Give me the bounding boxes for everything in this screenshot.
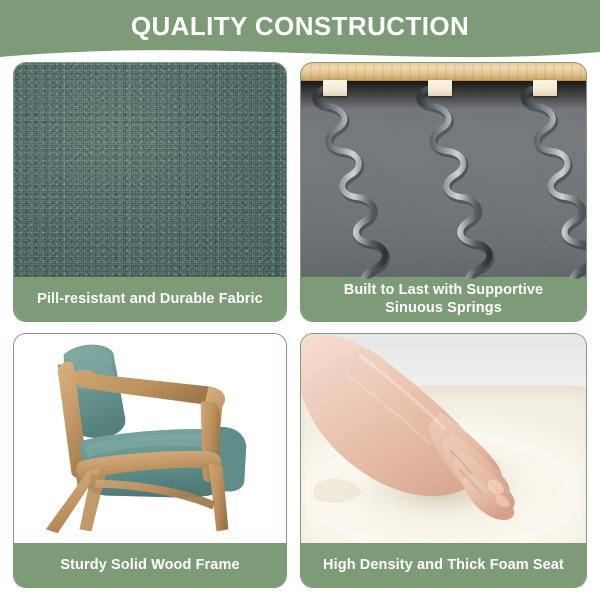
feature-card-foam-seat-caption: High Density and Thick Foam Seat — [301, 543, 586, 587]
accent-chair-image — [14, 334, 286, 545]
spring-clip-1 — [323, 80, 347, 96]
page-title: QUALITY CONSTRUCTION — [0, 11, 600, 41]
feature-card-springs-caption: Built to Last with Supportive Sinuous Sp… — [301, 277, 586, 321]
springs-caption-line-2: Sinuous Springs — [385, 300, 502, 316]
fabric-swatch-image — [14, 63, 286, 279]
spring-clip-2 — [428, 80, 452, 96]
feature-card-springs[interactable]: Built to Last with Supportive Sinuous Sp… — [300, 62, 587, 322]
feature-card-fabric[interactable]: Pill-resistant and Durable Fabric — [13, 62, 287, 322]
page-header: QUALITY CONSTRUCTION — [0, 0, 600, 60]
sinuous-spring-icon — [301, 63, 586, 279]
springs-caption-line-1: Built to Last with Supportive — [344, 282, 543, 298]
feature-card-wood-frame[interactable]: Sturdy Solid Wood Frame — [13, 333, 287, 588]
fabric-swatch-icon — [14, 63, 286, 279]
feature-card-grid: Pill-resistant and Durable Fabric — [13, 62, 587, 588]
foam-press-image — [301, 334, 586, 545]
feature-card-fabric-caption: Pill-resistant and Durable Fabric — [14, 277, 286, 321]
chair-drawing — [14, 334, 286, 545]
hand-press-foam-icon — [301, 334, 586, 545]
feature-card-foam-seat[interactable]: High Density and Thick Foam Seat — [300, 333, 587, 588]
armchair-icon — [14, 334, 286, 545]
feature-card-wood-frame-caption: Sturdy Solid Wood Frame — [14, 543, 286, 587]
spring-clip-3 — [533, 80, 557, 96]
sinuous-springs-image — [301, 63, 586, 279]
hand-drawing — [301, 334, 586, 545]
